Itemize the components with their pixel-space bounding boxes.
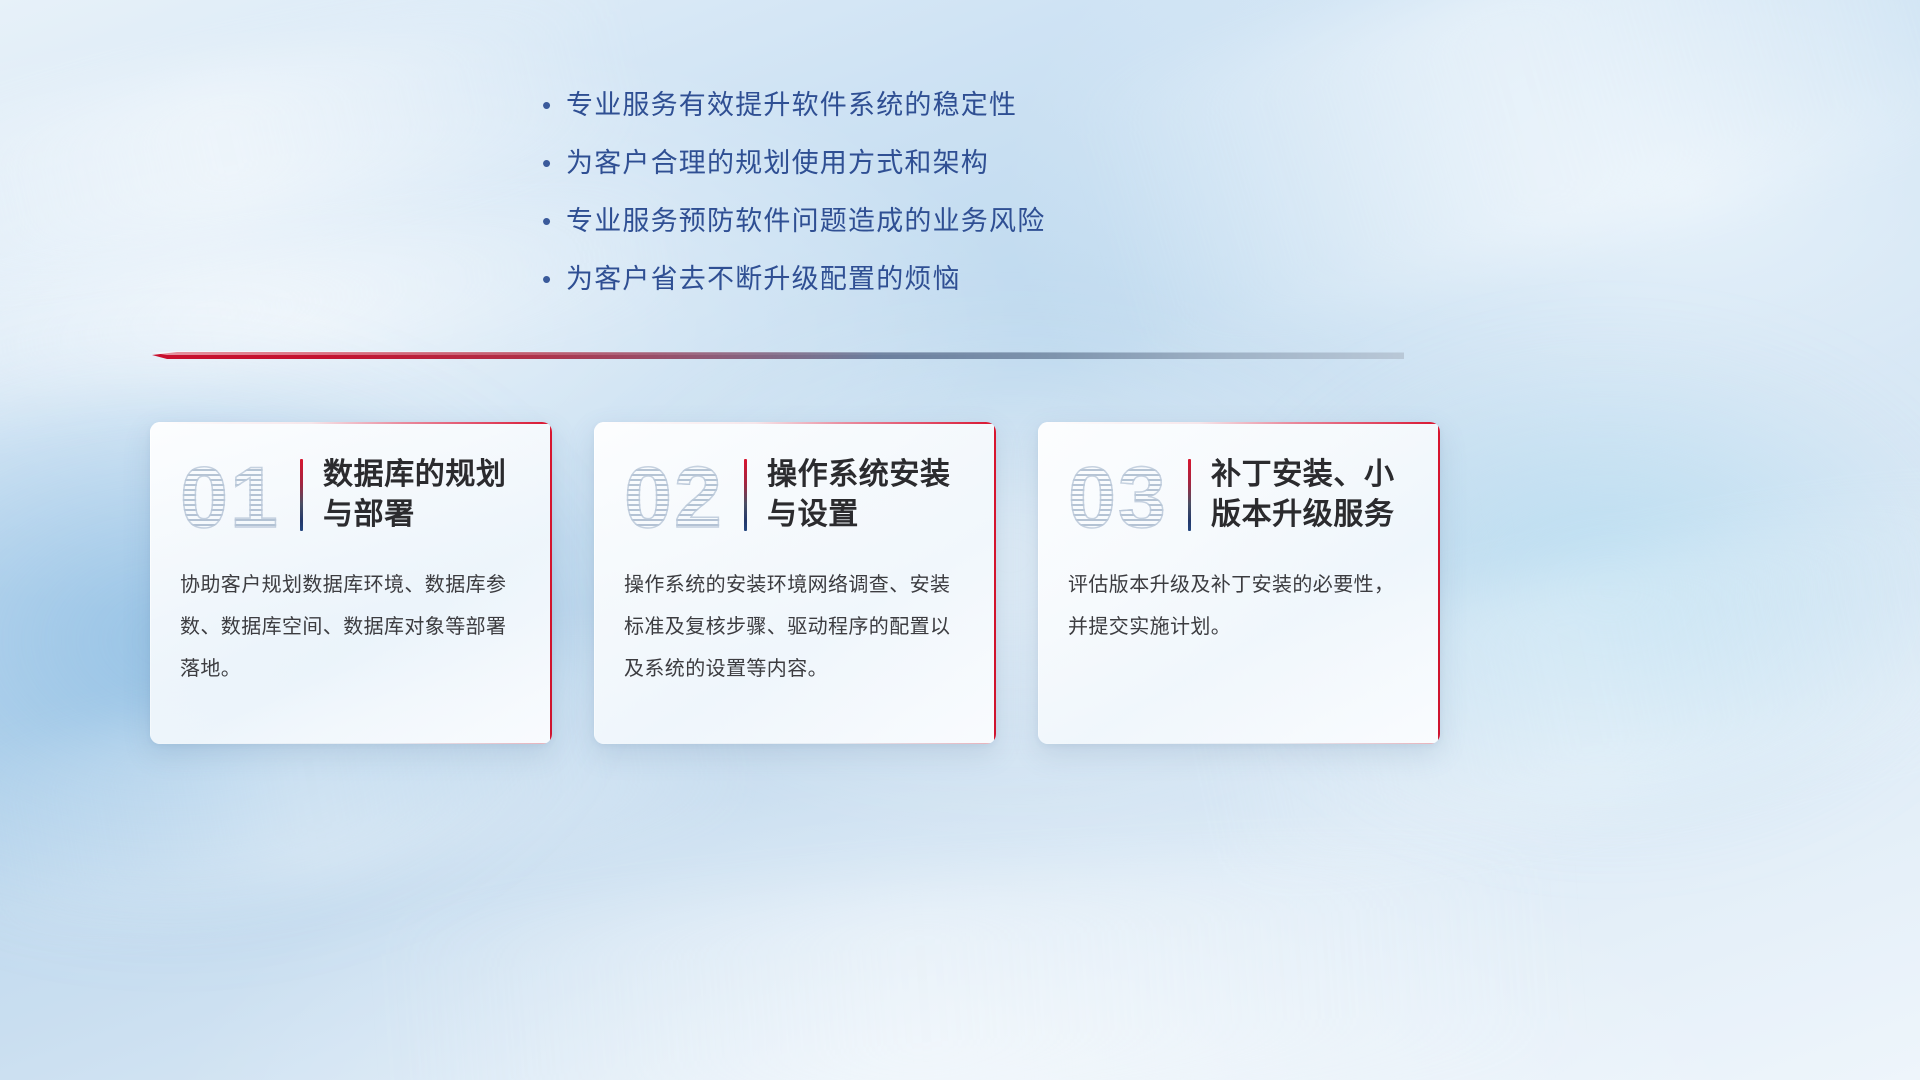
card-number: 03	[1052, 449, 1184, 541]
card-title-rule	[744, 459, 747, 531]
card-title: 补丁安装、小版本升级服务	[1211, 455, 1420, 534]
service-card[interactable]: 01 数据库的规划与部署 协助客户规划数据库环境、数据库参数、数据库空间、数据库…	[150, 422, 552, 744]
bullet-item-text: 专业服务有效提升软件系统的稳定性	[566, 88, 1017, 123]
card-number: 01	[164, 449, 296, 541]
card-body-text: 协助客户规划数据库环境、数据库参数、数据库空间、数据库对象等部署落地。	[150, 550, 552, 690]
card-title: 数据库的规划与部署	[323, 455, 532, 534]
bullet-item-text: 为客户省去不断升级配置的烦恼	[566, 262, 961, 297]
service-card[interactable]: 02 操作系统安装与设置 操作系统的安装环境网络调查、安装标准及复核步骤、驱动程…	[594, 422, 996, 744]
card-header: 03 补丁安装、小版本升级服务	[1038, 422, 1440, 550]
card-bottom-edge	[150, 743, 552, 744]
card-body-text: 评估版本升级及补丁安装的必要性，并提交实施计划。	[1038, 550, 1440, 648]
bullet-item: • 专业服务预防软件问题造成的业务风险	[538, 204, 1358, 239]
card-title: 操作系统安装与设置	[767, 455, 976, 534]
card-bottom-edge	[594, 743, 996, 744]
card-header: 01 数据库的规划与部署	[150, 422, 552, 550]
card-body-text: 操作系统的安装环境网络调查、安装标准及复核步骤、驱动程序的配置以及系统的设置等内…	[594, 550, 996, 690]
bullet-marker-icon: •	[538, 266, 566, 292]
bullet-item-text: 为客户合理的规划使用方式和架构	[566, 146, 989, 181]
bullet-marker-icon: •	[538, 150, 566, 176]
card-title-rule	[1188, 459, 1191, 531]
bullet-marker-icon: •	[538, 92, 566, 118]
divider-highlight	[152, 351, 1404, 355]
bullet-marker-icon: •	[538, 208, 566, 234]
bullet-item: • 为客户省去不断升级配置的烦恼	[538, 262, 1358, 297]
card-header: 02 操作系统安装与设置	[594, 422, 996, 550]
service-card[interactable]: 03 补丁安装、小版本升级服务 评估版本升级及补丁安装的必要性，并提交实施计划。	[1038, 422, 1440, 744]
card-bottom-edge	[1038, 743, 1440, 744]
bullet-item-text: 专业服务预防软件问题造成的业务风险	[566, 204, 1045, 239]
bullet-item: • 为客户合理的规划使用方式和架构	[538, 146, 1358, 181]
card-number: 02	[608, 449, 740, 541]
card-title-rule	[300, 459, 303, 531]
service-card-list: 01 数据库的规划与部署 协助客户规划数据库环境、数据库参数、数据库空间、数据库…	[150, 422, 1440, 744]
benefits-bullet-list: • 专业服务有效提升软件系统的稳定性 • 为客户合理的规划使用方式和架构 • 专…	[538, 88, 1358, 320]
bullet-item: • 专业服务有效提升软件系统的稳定性	[538, 88, 1358, 123]
section-divider	[152, 349, 1404, 365]
